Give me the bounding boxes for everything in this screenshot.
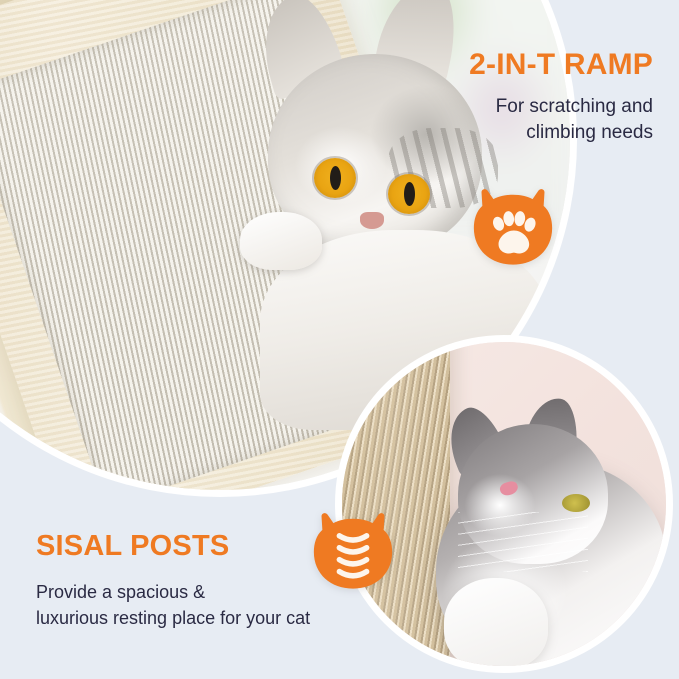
cat-eye-left bbox=[314, 158, 356, 198]
cat-paw bbox=[240, 212, 322, 270]
cat-pupil-left bbox=[330, 166, 341, 190]
ramp-description: For scratching and climbing needs bbox=[353, 94, 653, 145]
fluffy-cat-whiskers bbox=[458, 512, 588, 572]
cat-nose bbox=[360, 212, 384, 229]
cat-head-paw-icon bbox=[470, 188, 556, 268]
sisal-description-line2: luxurious resting place for your cat bbox=[36, 608, 310, 628]
fluffy-cat-head bbox=[458, 424, 608, 564]
feature-text-ramp: 2-IN-T RAMP For scratching and climbing … bbox=[353, 48, 653, 145]
fluffy-cat-eye bbox=[562, 494, 590, 512]
ramp-description-line2: climbing needs bbox=[526, 122, 653, 143]
sisal-description: Provide a spacious & luxurious resting p… bbox=[36, 579, 396, 631]
cat-eye-right bbox=[388, 174, 430, 214]
sisal-description-line1: Provide a spacious & bbox=[36, 582, 205, 602]
cat-pupil-right bbox=[404, 182, 415, 206]
fluffy-cat-nose bbox=[498, 480, 519, 498]
sisal-heading: SISAL POSTS bbox=[36, 530, 396, 563]
fluffy-cat-paws bbox=[444, 578, 548, 666]
feature-text-sisal: SISAL POSTS Provide a spacious & luxurio… bbox=[36, 530, 396, 631]
fluffy-cat bbox=[422, 402, 666, 666]
ramp-description-line1: For scratching and bbox=[496, 96, 653, 117]
ramp-heading: 2-IN-T RAMP bbox=[353, 48, 653, 82]
product-feature-infographic: 2-IN-T RAMP For scratching and climbing … bbox=[0, 0, 679, 679]
